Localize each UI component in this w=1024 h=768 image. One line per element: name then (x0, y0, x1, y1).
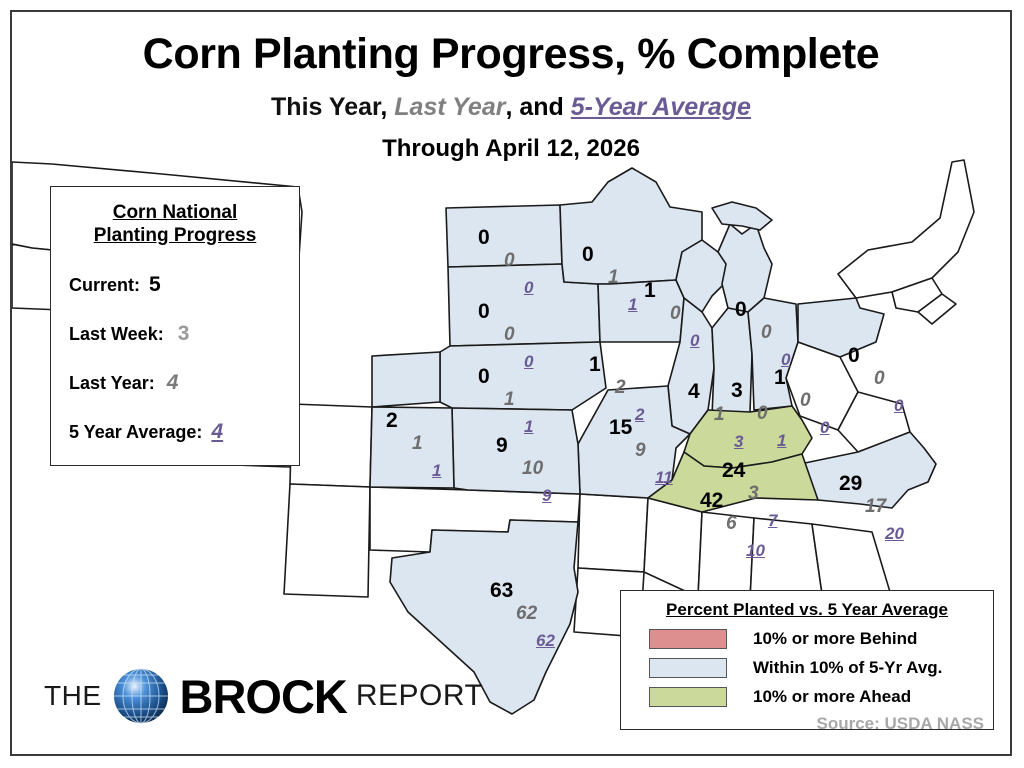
national-label-five-year-average: 5 Year Average: (69, 422, 202, 442)
subtitle-five-year-average: 5-Year Average (571, 93, 751, 121)
state-last-year-mo: 9 (635, 441, 646, 460)
state-current-ia: 1 (589, 354, 601, 375)
legend-label-behind: 10% or more Behind (753, 629, 917, 649)
state-last-year-tx: 62 (516, 604, 537, 623)
state-last-year-oh: 0 (800, 391, 811, 410)
state-five-year-avg-nc: 20 (885, 525, 904, 542)
national-value-current: 5 (149, 273, 161, 296)
state-current-sd: 0 (478, 301, 490, 322)
state-five-year-avg-wi: 0 (690, 332, 699, 349)
state-five-year-avg-pa: 0 (894, 397, 903, 414)
state-current-il: 4 (688, 381, 700, 402)
subtitle-last-year: Last Year (394, 93, 505, 121)
state-five-year-avg-mo: 11 (655, 469, 673, 486)
state-last-year-il: 1 (714, 405, 725, 424)
state-current-co: 2 (386, 410, 398, 431)
state-last-year-pa: 0 (874, 369, 885, 388)
state-five-year-avg-in: 1 (777, 432, 786, 449)
legend-item-within: Within 10% of 5-Yr Avg. (621, 658, 993, 678)
logo-the: THE (44, 680, 102, 712)
subtitle-this-year: This Year (271, 93, 380, 121)
state-five-year-avg-mn: 1 (628, 296, 637, 313)
national-row-current: Current:5 (51, 273, 161, 297)
state-last-year-nd: 0 (504, 251, 515, 270)
subtitle-sep-2: , and (505, 93, 570, 121)
state-five-year-avg-nd: 0 (524, 279, 533, 296)
state-current-in: 3 (731, 380, 743, 401)
state-current-oh: 1 (774, 367, 786, 388)
chart-subtitle: This Year, Last Year, and 5-Year Average (12, 93, 1010, 122)
state-five-year-avg-ks: 9 (542, 487, 551, 504)
national-value-five-year-average: 4 (211, 420, 223, 443)
map-legend: Percent Planted vs. 5 Year Average 10% o… (620, 590, 994, 730)
legend-swatch-behind (649, 629, 727, 649)
national-progress-box: Corn National Planting Progress Current:… (50, 186, 300, 466)
national-box-title: Corn National Planting Progress (51, 187, 299, 247)
national-label-last-year: Last Year: (69, 373, 155, 393)
national-row-five-year-average: 5 Year Average:4 (51, 420, 223, 444)
state-five-year-avg-ne: 1 (524, 418, 533, 435)
legend-swatch-within (649, 658, 727, 678)
logo-report: REPORT (356, 679, 483, 713)
state-five-year-avg-il: 3 (734, 433, 743, 450)
legend-title: Percent Planted vs. 5 Year Average (621, 591, 993, 620)
chart-title: Corn Planting Progress, % Complete (12, 30, 1010, 79)
state-last-year-mn: 1 (608, 268, 619, 287)
state-last-year-ky: 3 (748, 484, 759, 503)
state-last-year-wi: 0 (670, 304, 681, 323)
state-last-year-sd: 0 (504, 325, 515, 344)
legend-label-ahead: 10% or more Ahead (753, 687, 911, 707)
state-five-year-avg-tx: 62 (536, 632, 555, 649)
state-current-nc: 29 (839, 473, 862, 494)
state-current-ne: 0 (478, 366, 490, 387)
state-five-year-avg-ky: 7 (768, 512, 777, 529)
globe-icon (112, 667, 170, 725)
national-row-last-week: Last Week:3 (51, 322, 189, 346)
national-row-last-year: Last Year:4 (51, 371, 178, 395)
state-last-year-ne: 1 (504, 390, 515, 409)
state-current-mi: 0 (735, 299, 747, 320)
national-value-last-week: 3 (178, 322, 190, 345)
national-box-title-line2: Planting Progress (51, 224, 299, 247)
state-five-year-avg-tn: 10 (746, 542, 765, 559)
state-current-tn: 42 (700, 490, 723, 511)
brock-report-logo: THE (44, 667, 483, 725)
state-current-ks: 9 (496, 435, 508, 456)
state-five-year-avg-sd: 0 (524, 353, 533, 370)
logo-brock: BROCK (180, 669, 347, 724)
state-current-mo: 15 (609, 417, 632, 438)
state-current-nd: 0 (478, 227, 490, 248)
national-box-title-line1: Corn National (51, 201, 299, 224)
state-current-tx: 63 (490, 580, 513, 601)
state-five-year-avg-co: 1 (432, 462, 441, 479)
state-five-year-avg-ia: 2 (635, 406, 644, 423)
state-current-ky: 24 (722, 460, 745, 481)
subtitle-sep-1: , (380, 93, 394, 121)
state-last-year-ks: 10 (522, 459, 543, 478)
state-last-year-co: 1 (412, 434, 423, 453)
chart-date-line: Through April 12, 2026 (12, 135, 1010, 163)
state-last-year-mi: 0 (761, 323, 772, 342)
state-last-year-in: 0 (757, 404, 768, 423)
national-label-current: Current: (69, 275, 140, 295)
state-last-year-ia: 2 (615, 378, 626, 397)
legend-item-behind: 10% or more Behind (621, 629, 993, 649)
national-value-last-year: 4 (167, 371, 179, 394)
source-label: Source: USDA NASS (816, 714, 984, 734)
national-label-last-week: Last Week: (69, 324, 164, 344)
legend-label-within: Within 10% of 5-Yr Avg. (753, 658, 942, 678)
state-five-year-avg-oh: 0 (820, 419, 829, 436)
state-current-mn: 0 (582, 244, 594, 265)
state-last-year-tn: 6 (726, 514, 737, 533)
chart-frame: Corn Planting Progress, % Complete This … (10, 10, 1012, 756)
legend-swatch-ahead (649, 687, 727, 707)
state-last-year-nc: 17 (865, 497, 886, 516)
state-current-pa: 0 (848, 345, 860, 366)
legend-item-ahead: 10% or more Ahead (621, 687, 993, 707)
state-current-wi: 1 (644, 280, 656, 301)
